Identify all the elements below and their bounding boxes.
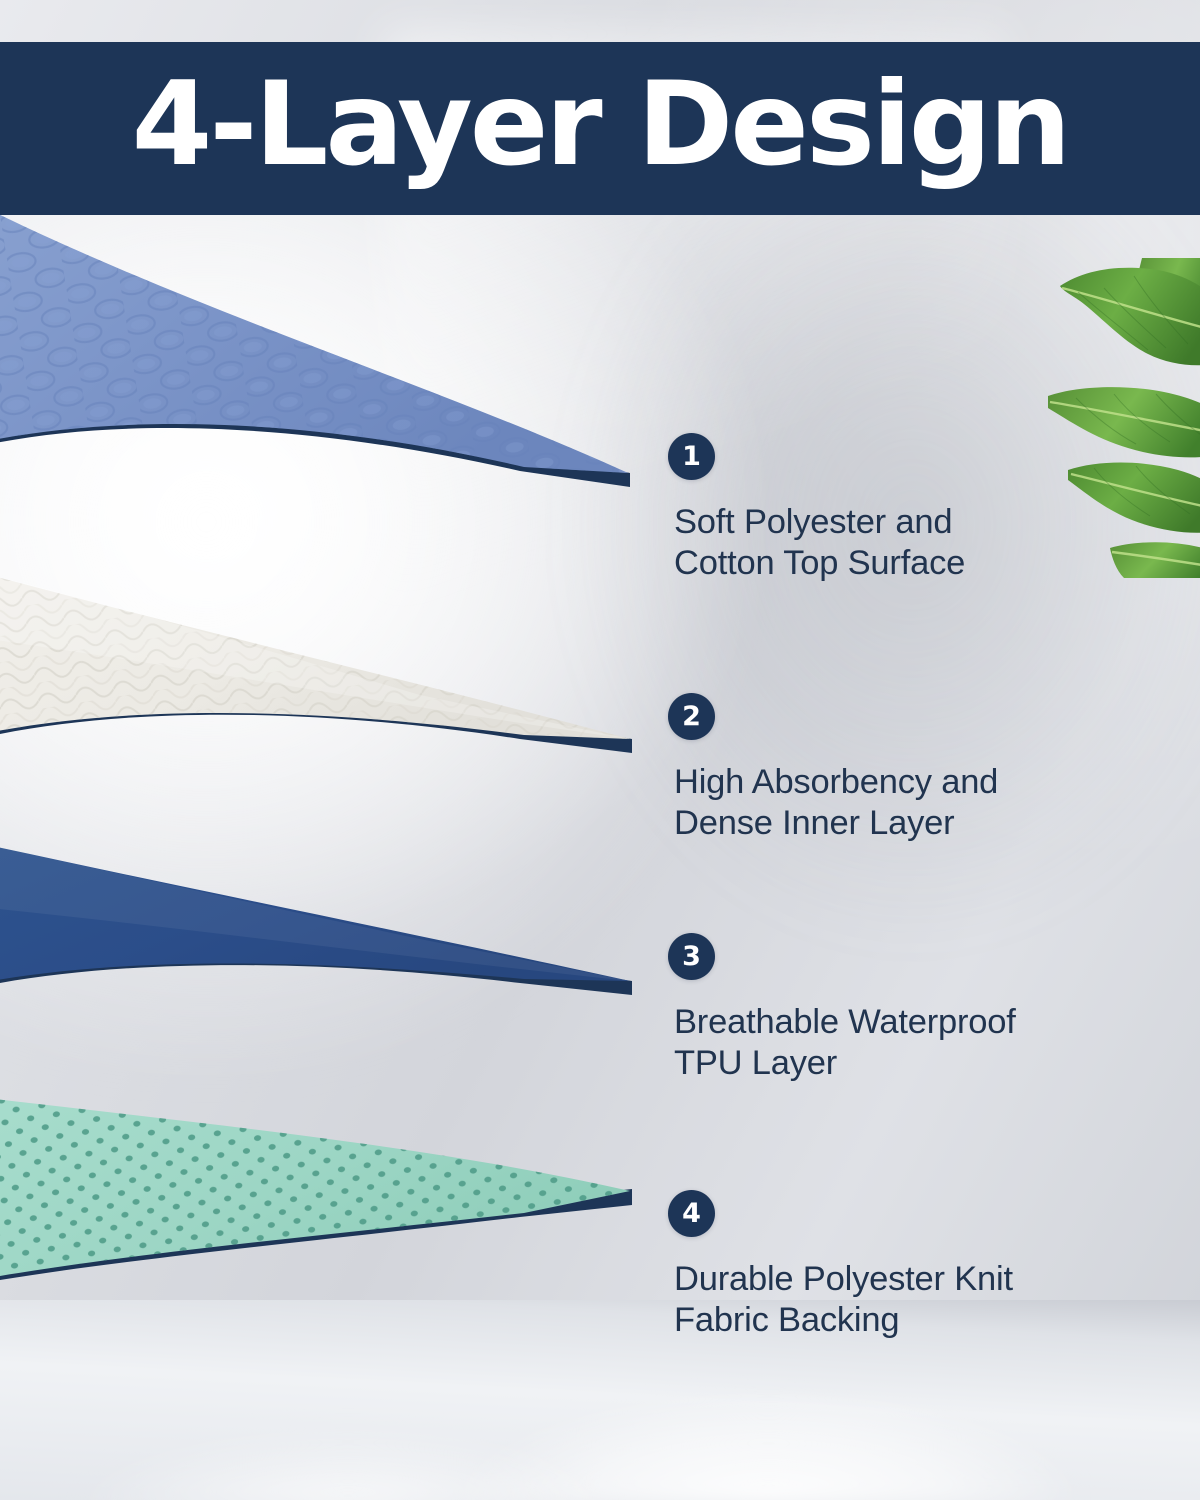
title-banner: 4-Layer Design — [0, 42, 1200, 215]
badge-number-4: 4 — [668, 1190, 715, 1237]
callout-label-2: High Absorbency and Dense Inner Layer — [674, 762, 1168, 843]
layer-shape-3 — [0, 839, 632, 995]
layer-stack-illustration — [0, 215, 700, 1445]
badge-number-2: 2 — [668, 693, 715, 740]
callout-list: 1 Soft Polyester and Cotton Top Surface … — [668, 215, 1188, 1445]
badge-number-3: 3 — [668, 933, 715, 980]
badge-number-1: 1 — [668, 433, 715, 480]
callout-label-1: Soft Polyester and Cotton Top Surface — [674, 502, 1168, 583]
callout-label-3: Breathable Waterproof TPU Layer — [674, 1002, 1168, 1083]
infographic-canvas: 4-Layer Design 1 Soft Polyester and Cott… — [0, 0, 1200, 1500]
layer-shape-2 — [0, 567, 632, 753]
page-title: 4-Layer Design — [132, 67, 1069, 183]
callout-label-4: Durable Polyester Knit Fabric Backing — [674, 1259, 1168, 1340]
callout-item-2: 2 High Absorbency and Dense Inner Layer — [668, 693, 1168, 843]
layer-shape-4 — [0, 1095, 632, 1287]
callout-item-4: 4 Durable Polyester Knit Fabric Backing — [668, 1190, 1168, 1340]
layer-shape-1 — [0, 195, 630, 487]
callout-item-3: 3 Breathable Waterproof TPU Layer — [668, 933, 1168, 1083]
callout-item-1: 1 Soft Polyester and Cotton Top Surface — [668, 433, 1168, 583]
